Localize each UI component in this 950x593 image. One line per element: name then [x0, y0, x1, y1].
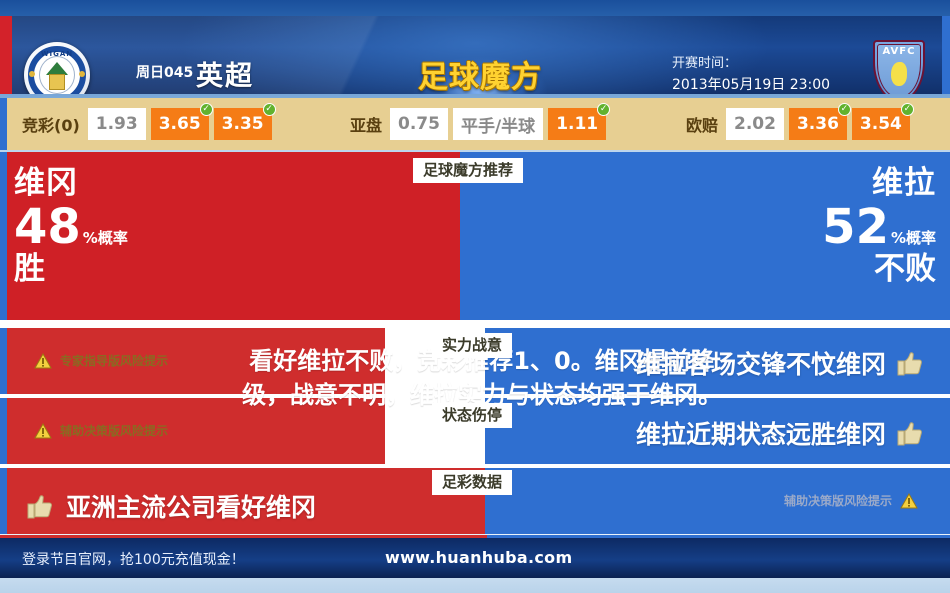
home-probability-block: 维冈 48 %概率 胜 [14, 168, 224, 286]
footer-bar: 登录节目官网，抢100元充值现金！ www.huanhuba.com [0, 538, 950, 578]
header-blue-accent [942, 16, 950, 94]
row3-risk-note: 辅助决策版风险提示 [784, 492, 926, 509]
odds-cell[interactable]: 0.75 [390, 108, 448, 140]
warning-icon [34, 353, 52, 369]
brand-logo-text: 足球魔方 [402, 52, 558, 94]
home-badge-top-text: WIGAN [24, 50, 90, 58]
odds-value: 1.11 [556, 114, 598, 134]
odds-value: 3.65 [159, 114, 201, 134]
away-outcome-label: 不败 [716, 253, 936, 286]
odds-group-jingcai: 竞彩(0)1.933.65✓3.35✓ [22, 98, 277, 150]
row2-insight: 维拉近期状态远胜维冈 [636, 415, 924, 451]
home-probability-suffix: %概率 [83, 227, 128, 248]
odds-value: 0.75 [398, 114, 440, 134]
odds-value: 1.93 [96, 114, 138, 134]
kickoff-label: 开赛时间： [672, 52, 737, 71]
away-probability-value: 52 [822, 203, 889, 251]
odds-group-label: 亚盘 [350, 112, 382, 136]
odds-group-asian: 亚盘0.75平手/半球1.11✓ [350, 98, 611, 150]
check-icon: ✓ [838, 103, 851, 116]
odds-left-accent [0, 98, 7, 150]
check-icon: ✓ [597, 103, 610, 116]
prediction-tag: 足球魔方推荐 [413, 158, 523, 183]
row1-insight: 维拉客场交锋不忟维冈 [636, 345, 924, 381]
thumbs-up-icon [896, 420, 924, 446]
odds-group-label: 欧赔 [686, 112, 718, 136]
row2-insight-text: 维拉近期状态远胜维冈 [636, 415, 886, 451]
footer-promo-text: 登录节目官网，抢100元充值现金！ [22, 549, 245, 569]
home-badge-bottom-text: ATHLETIC [24, 93, 90, 94]
odds-cell-highlighted[interactable]: 1.11✓ [548, 108, 606, 140]
header-red-accent [0, 16, 12, 94]
row1-tag: 实力战意 [432, 333, 512, 358]
odds-cell-highlighted[interactable]: 3.36✓ [789, 108, 847, 140]
footer-red-stripe [0, 535, 487, 538]
check-icon: ✓ [901, 103, 914, 116]
odds-cell[interactable]: 2.02 [726, 108, 784, 140]
odds-group-european: 欧赔2.023.36✓3.54✓ [686, 98, 915, 150]
kickoff-value: 2013年05月19日 23:00 [672, 74, 830, 94]
brand-logo: 足球魔方 [402, 38, 558, 94]
odds-cell-highlighted[interactable]: 3.35✓ [214, 108, 272, 140]
odds-value: 3.54 [860, 114, 902, 134]
odds-value: 3.35 [222, 114, 264, 134]
home-outcome-label: 胜 [14, 253, 224, 286]
away-badge-text: AVFC [873, 46, 925, 57]
lion-icon [891, 62, 907, 86]
thumbs-up-icon [26, 493, 54, 519]
row2-risk-text: 辅助决策版风险提示 [60, 422, 168, 439]
thumbs-up-icon [896, 350, 924, 376]
prediction-left-accent [0, 152, 7, 320]
warning-icon [900, 493, 918, 509]
odds-group-label: 竞彩(0) [22, 112, 80, 136]
away-probability-suffix: %概率 [891, 227, 936, 248]
odds-cell[interactable]: 平手/半球 [453, 108, 543, 140]
row3-tag: 足彩数据 [432, 470, 512, 495]
match-header: WIGAN ATHLETIC 周日045 英超 足球魔方 开赛时间： 2013年… [0, 16, 950, 94]
home-team-name: 维冈 [14, 168, 224, 199]
row2-risk-note: 辅助决策版风险提示 [34, 422, 168, 439]
check-icon: ✓ [200, 103, 213, 116]
odds-cell[interactable]: 1.93 [88, 108, 146, 140]
footer-website-url: www.huanhuba.com [385, 548, 572, 567]
league-name: 英超 [196, 54, 254, 93]
odds-cell-highlighted[interactable]: 3.54✓ [852, 108, 910, 140]
odds-value: 2.02 [734, 114, 776, 134]
row2-tag: 状态伤停 [432, 403, 512, 428]
row3-insight: 亚洲主流公司看好维冈 [26, 488, 316, 524]
match-round: 周日045 [136, 62, 193, 82]
odds-cell-highlighted[interactable]: 3.65✓ [151, 108, 209, 140]
row1-left-accent [0, 328, 7, 394]
away-team-badge: AVFC [873, 40, 925, 94]
odds-bar: 竞彩(0)1.933.65✓3.35✓ 亚盘0.75平手/半球1.11✓ 欧赔2… [0, 98, 950, 150]
row3-insight-text: 亚洲主流公司看好维冈 [66, 488, 316, 524]
footer-blue-stripe [487, 535, 950, 538]
row1-risk-note: 专家指导版风险提示 [34, 352, 168, 369]
warning-icon [34, 423, 52, 439]
home-probability-value: 48 [14, 203, 81, 251]
away-probability-block: 维拉 52 %概率 不败 [716, 168, 936, 286]
row3-left-accent [0, 468, 7, 534]
row2-left-accent [0, 398, 7, 464]
broadcast-graphic-root: WIGAN ATHLETIC 周日045 英超 足球魔方 开赛时间： 2013年… [0, 0, 950, 593]
odds-value: 平手/半球 [461, 112, 535, 137]
check-icon: ✓ [263, 103, 276, 116]
away-team-name: 维拉 [716, 168, 936, 199]
row3-risk-text: 辅助决策版风险提示 [784, 492, 892, 509]
home-team-badge: WIGAN ATHLETIC [24, 42, 90, 94]
odds-value: 3.36 [797, 114, 839, 134]
row1-insight-text: 维拉客场交锋不忟维冈 [636, 345, 886, 381]
row1-risk-text: 专家指导版风险提示 [60, 352, 168, 369]
